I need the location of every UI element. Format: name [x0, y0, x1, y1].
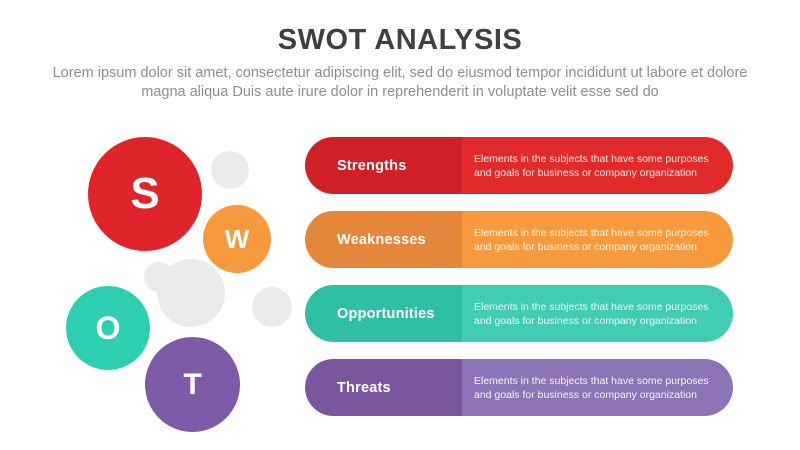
page-subtitle: Lorem ipsum dolor sit amet, consectetur …	[38, 64, 762, 102]
swot-bar-label-panel-weaknesses: Weaknesses	[305, 211, 462, 268]
swot-bar-label-panel-threats: Threats	[305, 359, 462, 416]
swot-circle-s: S	[88, 137, 202, 251]
swot-circle-letter: S	[130, 172, 159, 216]
swot-bar-description: Elements in the subjects that have some …	[474, 300, 723, 328]
swot-bar-label-panel-opportunities: Opportunities	[305, 285, 462, 342]
swot-circle-t: T	[145, 337, 240, 432]
swot-bar-description: Elements in the subjects that have some …	[474, 374, 723, 402]
swot-bar-label: Opportunities	[337, 306, 435, 322]
swot-infographic-canvas: SWOT ANALYSIS Lorem ipsum dolor sit amet…	[0, 0, 800, 450]
swot-circle-letter: W	[225, 226, 250, 252]
decorative-dot-3	[157, 259, 225, 327]
page-title: SWOT ANALYSIS	[0, 24, 800, 57]
swot-bar-label: Strengths	[337, 158, 406, 174]
swot-bar-label: Weaknesses	[337, 232, 426, 248]
decorative-dot-4	[252, 287, 292, 327]
swot-bar-description-panel-weaknesses: Elements in the subjects that have some …	[462, 211, 733, 268]
swot-circle-o: O	[66, 286, 150, 370]
swot-bar-opportunities[interactable]: OpportunitiesElements in the subjects th…	[305, 285, 733, 342]
swot-bar-strengths[interactable]: StrengthsElements in the subjects that h…	[305, 137, 733, 194]
swot-bar-weaknesses[interactable]: WeaknessesElements in the subjects that …	[305, 211, 733, 268]
swot-bar-description-panel-threats: Elements in the subjects that have some …	[462, 359, 733, 416]
decorative-dot-1	[211, 151, 249, 189]
swot-bar-description: Elements in the subjects that have some …	[474, 226, 723, 254]
swot-bar-description-panel-opportunities: Elements in the subjects that have some …	[462, 285, 733, 342]
swot-bar-label: Threats	[337, 380, 391, 396]
swot-circle-w: W	[203, 205, 271, 273]
swot-bar-description: Elements in the subjects that have some …	[474, 152, 723, 180]
swot-bar-description-panel-strengths: Elements in the subjects that have some …	[462, 137, 733, 194]
swot-bar-label-panel-strengths: Strengths	[305, 137, 462, 194]
swot-circle-letter: O	[96, 312, 121, 344]
swot-circle-letter: T	[183, 370, 201, 400]
swot-bar-threats[interactable]: ThreatsElements in the subjects that hav…	[305, 359, 733, 416]
